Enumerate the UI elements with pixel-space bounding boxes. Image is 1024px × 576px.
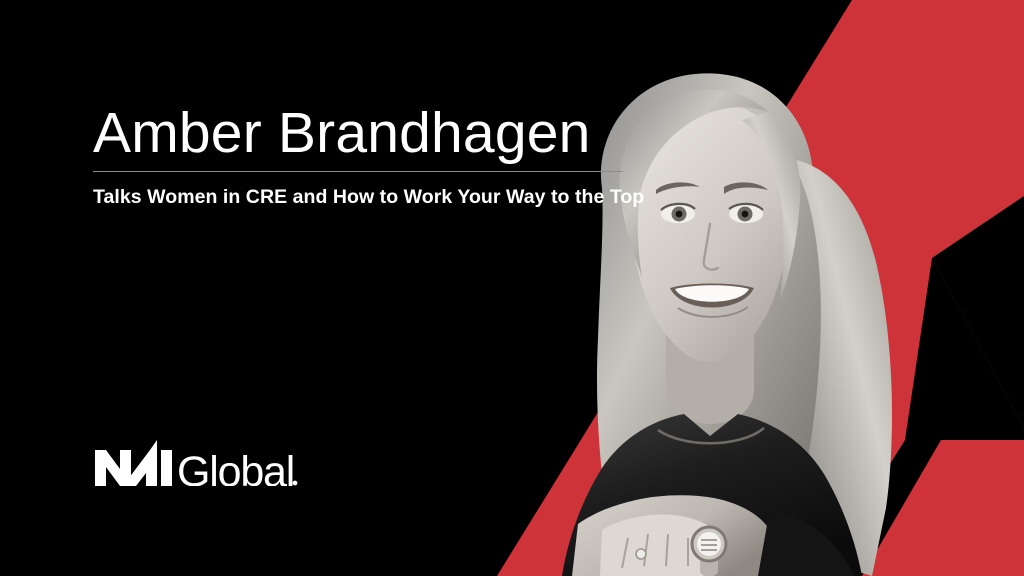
page-title: Amber Brandhagen bbox=[93, 104, 633, 162]
ring bbox=[636, 549, 646, 559]
slide-canvas: Amber Brandhagen Talks Women in CRE and … bbox=[0, 0, 1024, 576]
logo-letter-n bbox=[95, 450, 131, 486]
logo-letter-i bbox=[161, 450, 172, 486]
nai-global-logo[interactable]: Global bbox=[95, 440, 301, 486]
pupil-right bbox=[742, 211, 749, 218]
logo-word-global: Global bbox=[177, 448, 294, 486]
title-block: Amber Brandhagen Talks Women in CRE and … bbox=[93, 104, 633, 209]
title-divider bbox=[93, 171, 623, 172]
nai-global-logo-mark: Global bbox=[95, 440, 301, 486]
logo-trademark-mark bbox=[293, 481, 298, 486]
page-subtitle: Talks Women in CRE and How to Work Your … bbox=[93, 186, 633, 209]
pupil-left bbox=[676, 211, 683, 218]
